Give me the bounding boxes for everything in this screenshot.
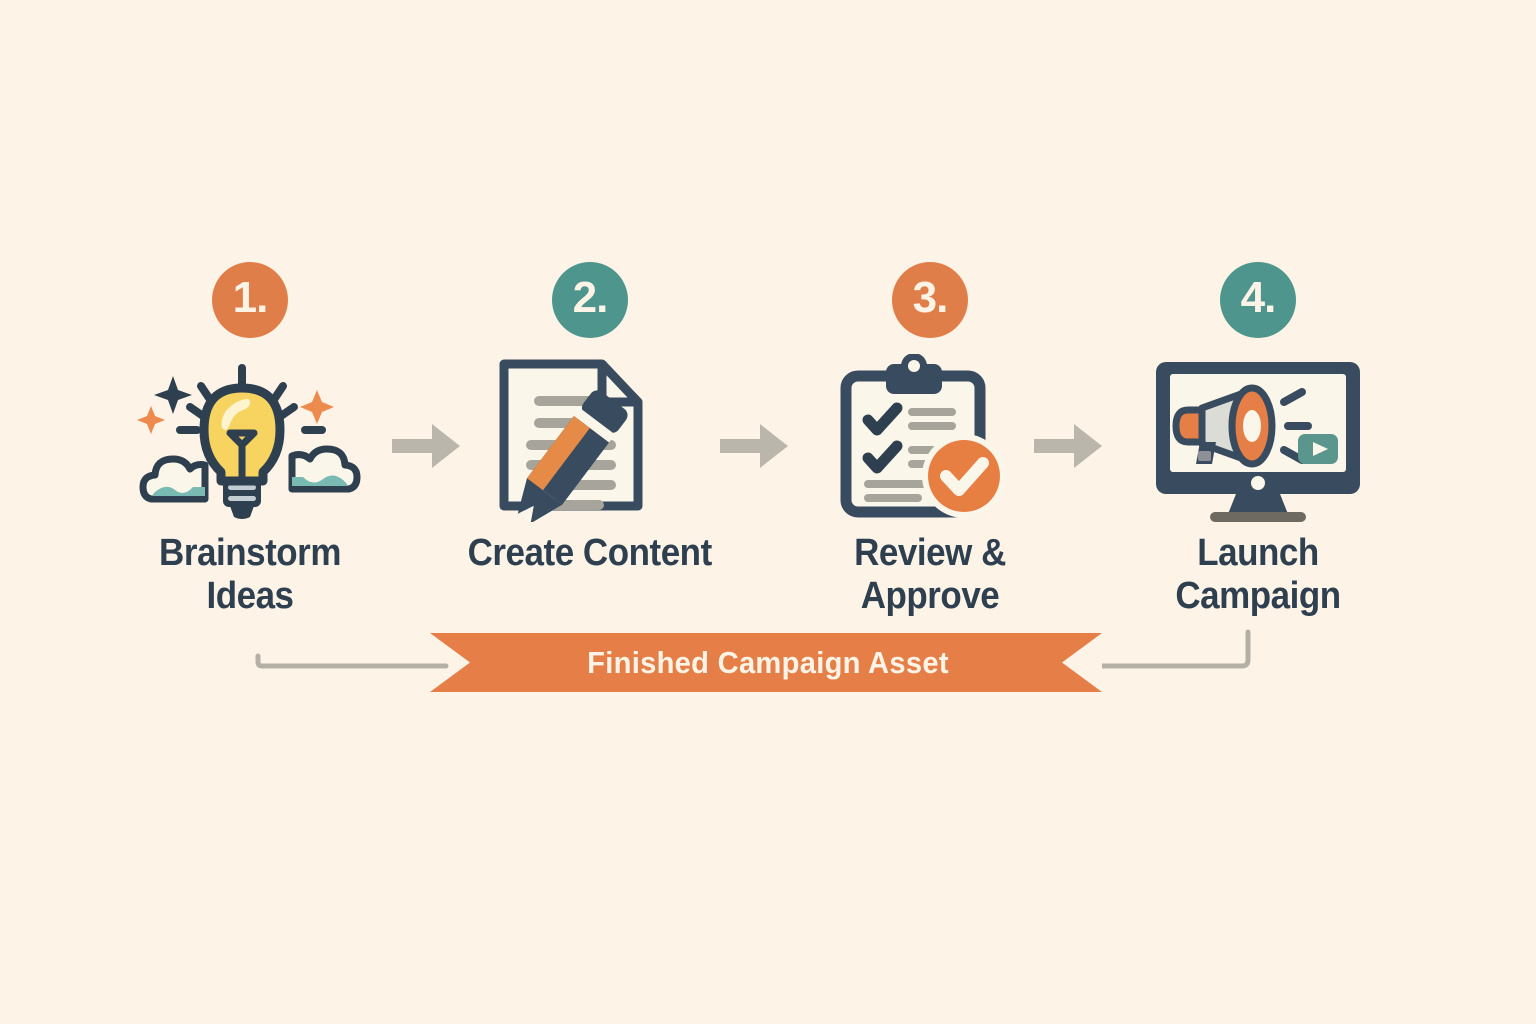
step-number-badge-1: 1.	[212, 262, 288, 338]
process-step-create-content[interactable]: 2.	[450, 262, 730, 575]
process-step-review-approve[interactable]: 3.	[790, 262, 1070, 617]
step-label-4: Launch Campaign	[1134, 532, 1382, 617]
sparkle-icon	[300, 390, 334, 424]
step-number-badge-3: 3.	[892, 262, 968, 338]
step-number-badge-2: 2.	[552, 262, 628, 338]
process-step-launch-campaign[interactable]: 4.	[1118, 262, 1398, 617]
monitor-megaphone-icon	[1148, 354, 1368, 522]
infographic-canvas: Finished Campaign Asset 1.	[0, 0, 1536, 1024]
step-icon-container-4	[1148, 354, 1368, 522]
step-icon-container-2	[490, 354, 690, 522]
cloud-icon	[143, 459, 205, 499]
sparkle-icon	[137, 406, 165, 434]
document-pencil-icon	[490, 354, 690, 522]
cloud-icon	[292, 449, 357, 489]
step-label-2: Create Content	[468, 532, 712, 575]
step-label-1: Brainstorm Ideas	[126, 532, 374, 617]
step-number-badge-4: 4.	[1220, 262, 1296, 338]
process-step-brainstorm[interactable]: 1.	[110, 262, 390, 617]
step-label-3: Review & Approve	[806, 532, 1054, 617]
step-icon-container-1	[135, 354, 365, 522]
lightbulb-idea-icon	[135, 354, 365, 522]
step-icon-container-3	[830, 354, 1030, 522]
process-steps-row: 1.	[0, 262, 1536, 662]
clipboard-checklist-approved-icon	[830, 354, 1030, 522]
